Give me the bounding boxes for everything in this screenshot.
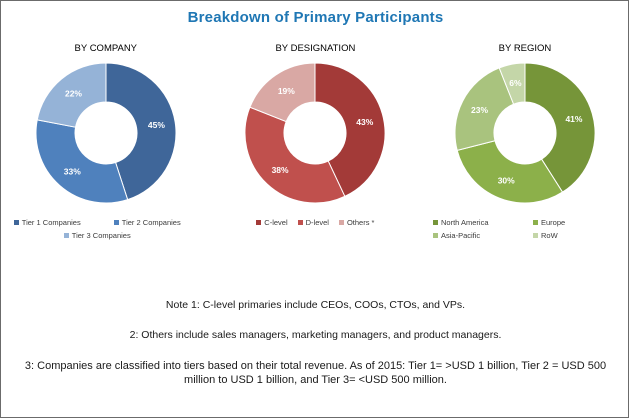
legend-item[interactable]: RoW	[525, 231, 625, 240]
legend-item[interactable]: North America	[425, 218, 525, 227]
legend-label: Tier 3 Companies	[72, 231, 131, 240]
slice-percent-label: 23%	[471, 105, 488, 115]
legend-item[interactable]: Others *	[339, 218, 375, 227]
legend-swatch-icon	[433, 233, 438, 238]
legend-swatch-icon	[298, 220, 303, 225]
legend-label: D-level	[306, 218, 329, 227]
donut-svg-by-company: 45%33%22%	[31, 58, 181, 208]
slice-percent-label: 45%	[148, 120, 165, 130]
slice-percent-label: 33%	[64, 166, 81, 176]
legend-label: Others *	[347, 218, 375, 227]
legend-item[interactable]: Asia-Pacific	[425, 231, 525, 240]
legend-item[interactable]: Tier 3 Companies	[56, 231, 156, 240]
legend-swatch-icon	[114, 220, 119, 225]
slice-percent-label: 43%	[357, 117, 374, 127]
donut-svg-by-region: 41%30%23%6%	[450, 58, 600, 208]
page-title: Breakdown of Primary Participants	[1, 9, 629, 26]
slice-percent-label: 38%	[272, 165, 289, 175]
donut-by-region: 41%30%23%6%	[450, 58, 600, 208]
legend-item[interactable]: C-level	[256, 218, 287, 227]
note-3: 3: Companies are classified into tiers b…	[1, 360, 629, 388]
donut-slice	[36, 120, 128, 203]
legend-label: C-level	[264, 218, 287, 227]
donut-slice	[457, 141, 562, 203]
slice-percent-label: 30%	[498, 175, 515, 185]
legend-swatch-icon	[64, 233, 69, 238]
legend-item[interactable]: Tier 1 Companies	[6, 218, 106, 227]
legend-swatch-icon	[533, 233, 538, 238]
legend-label: Europe	[541, 218, 565, 227]
legend-item[interactable]: Tier 2 Companies	[106, 218, 206, 227]
legend-swatch-icon	[433, 220, 438, 225]
chart-title-by-company: BY COMPANY	[75, 43, 137, 54]
legend-item[interactable]: Europe	[525, 218, 625, 227]
legend-label: Tier 2 Companies	[122, 218, 181, 227]
legend-label: North America	[441, 218, 489, 227]
chart-by-region: BY REGION 41%30%23%6% North AmericaEurop…	[420, 43, 629, 240]
legend-swatch-icon	[339, 220, 344, 225]
legend-swatch-icon	[14, 220, 19, 225]
chart-by-company: BY COMPANY 45%33%22% Tier 1 CompaniesTie…	[1, 43, 211, 240]
legend-by-company: Tier 1 CompaniesTier 2 CompaniesTier 3 C…	[6, 218, 206, 240]
legend-by-region: North AmericaEuropeAsia-PacificRoW	[425, 218, 625, 240]
legend-label: Asia-Pacific	[441, 231, 480, 240]
chart-title-by-region: BY REGION	[499, 43, 552, 54]
legend-label: Tier 1 Companies	[22, 218, 81, 227]
slice-percent-label: 22%	[65, 89, 82, 99]
legend-by-designation: C-levelD-levelOthers *	[215, 218, 415, 227]
legend-label: RoW	[541, 231, 558, 240]
donut-svg-by-designation: 43%38%19%	[240, 58, 390, 208]
figure-container: Breakdown of Primary Participants BY COM…	[0, 0, 629, 418]
donut-charts-row: BY COMPANY 45%33%22% Tier 1 CompaniesTie…	[1, 43, 629, 278]
donut-by-designation: 43%38%19%	[240, 58, 390, 208]
note-1: Note 1: C-level primaries include CEOs, …	[1, 299, 629, 312]
slice-percent-label: 6%	[509, 78, 522, 88]
notes-block: Note 1: C-level primaries include CEOs, …	[1, 289, 629, 388]
legend-swatch-icon	[256, 220, 261, 225]
note-2: 2: Others include sales managers, market…	[1, 329, 629, 342]
donut-by-company: 45%33%22%	[31, 58, 181, 208]
chart-by-designation: BY DESIGNATION 43%38%19% C-levelD-levelO…	[211, 43, 421, 227]
legend-swatch-icon	[533, 220, 538, 225]
chart-title-by-designation: BY DESIGNATION	[275, 43, 355, 54]
legend-item[interactable]: D-level	[298, 218, 329, 227]
donut-slice	[245, 107, 345, 203]
slice-percent-label: 41%	[565, 114, 582, 124]
slice-percent-label: 19%	[278, 86, 295, 96]
